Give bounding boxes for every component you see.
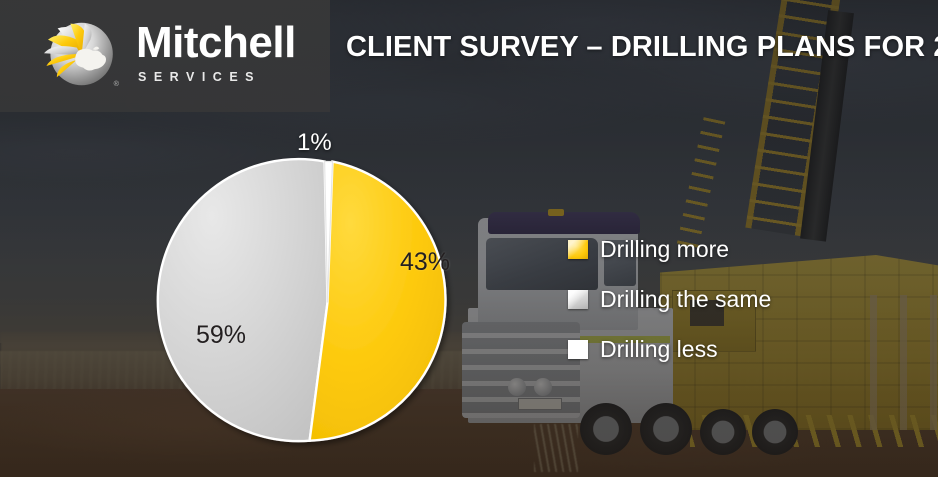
legend-item-drilling-less[interactable]: Drilling less — [568, 324, 771, 374]
legend-item-drilling-more[interactable]: Drilling more — [568, 224, 771, 274]
legend-swatch-gray-icon — [568, 290, 588, 309]
brand-text-block: Mitchell SERVICES — [136, 21, 296, 84]
page-title: CLIENT SURVEY – DRILLING PLANS FOR 2022 — [346, 31, 938, 64]
pie-slice-drilling-the-same[interactable] — [158, 159, 328, 441]
brand-lockup: ® Mitchell SERVICES — [40, 14, 296, 94]
legend-item-label: Drilling the same — [600, 286, 771, 313]
mitchell-services-emblem-icon: ® — [40, 14, 120, 94]
pie-value-label-drilling-less: 1% — [297, 129, 332, 157]
pie-value-label-drilling-the-same: 59% — [196, 321, 246, 350]
pie-value-label-drilling-more: 43% — [400, 248, 450, 277]
legend-item-label: Drilling less — [600, 336, 718, 363]
brand-tagline: SERVICES — [138, 70, 296, 84]
pie-chart — [180, 155, 475, 450]
registered-mark: ® — [114, 79, 120, 88]
legend-item-drilling-the-same[interactable]: Drilling the same — [568, 274, 771, 324]
slide-canvas: ® Mitchell SERVICES CLIENT SURVEY – DRIL… — [0, 0, 938, 477]
brand-name: Mitchell — [136, 21, 296, 65]
chart-legend: Drilling more Drilling the same Drilling… — [568, 224, 771, 374]
legend-swatch-yellow-icon — [568, 240, 588, 259]
legend-item-label: Drilling more — [600, 236, 729, 263]
legend-swatch-white-icon — [568, 340, 588, 359]
